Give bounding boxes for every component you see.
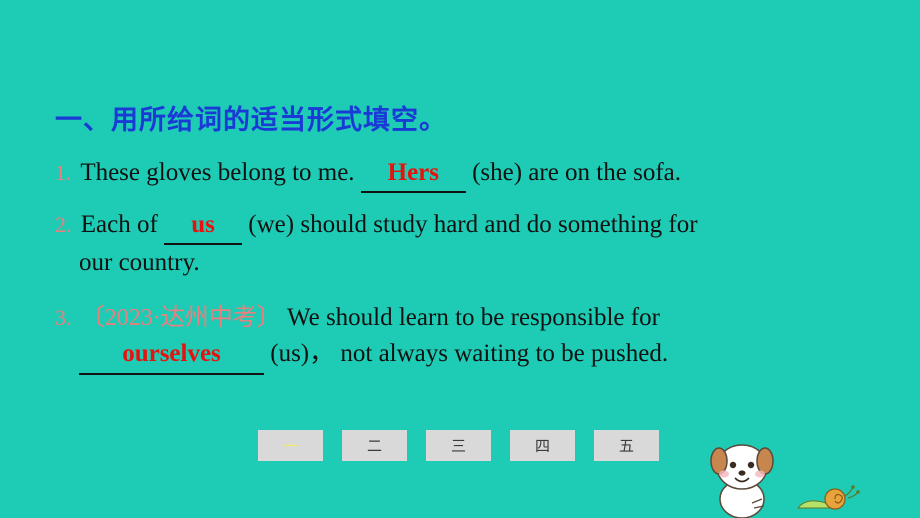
question-item: 1. These gloves belong to me. Hers (she)… bbox=[55, 155, 875, 193]
question-text-after: (we) should study hard and do something … bbox=[248, 211, 697, 238]
tab-4[interactable]: 四 bbox=[510, 430, 575, 461]
question-text-before: We should learn to be responsible for bbox=[287, 304, 660, 331]
answer-blank: us bbox=[164, 207, 242, 245]
tab-2[interactable]: 二 bbox=[342, 430, 407, 461]
exam-source-tag: 〔2023·达州中考〕 bbox=[81, 305, 281, 331]
tab-1[interactable]: 一 bbox=[258, 430, 323, 461]
question-item: 3. 〔2023·达州中考〕 We should learn to be res… bbox=[55, 300, 875, 375]
slide-canvas: 一、用所给词的适当形式填空。 1. These gloves belong to… bbox=[0, 0, 920, 518]
question-text-after: (she) are on the sofa. bbox=[472, 159, 681, 186]
section-tabs: 一 二 三 四 五 bbox=[258, 430, 659, 461]
tab-3[interactable]: 三 bbox=[426, 430, 491, 461]
tab-5[interactable]: 五 bbox=[594, 430, 659, 461]
dog-mascot-icon bbox=[705, 433, 780, 518]
question-number: 2. bbox=[55, 212, 75, 237]
snail-icon bbox=[790, 484, 860, 512]
question-text-before: Each of bbox=[81, 211, 158, 238]
question-number: 1. bbox=[55, 160, 75, 185]
question-number: 3. bbox=[55, 305, 75, 330]
page-title: 一、用所给词的适当形式填空。 bbox=[55, 98, 447, 137]
question-second-line: ourselves (us)， not always waiting to be… bbox=[55, 336, 875, 374]
question-text-before: These gloves belong to me. bbox=[80, 159, 354, 186]
question-item: 2. Each of us (we) should study hard and… bbox=[55, 207, 875, 282]
question-text-continued: our country. bbox=[55, 245, 875, 281]
answer-blank: ourselves bbox=[79, 336, 264, 374]
answer-blank: Hers bbox=[361, 155, 466, 193]
question-text-after: (us)， not always waiting to be pushed. bbox=[270, 340, 668, 367]
